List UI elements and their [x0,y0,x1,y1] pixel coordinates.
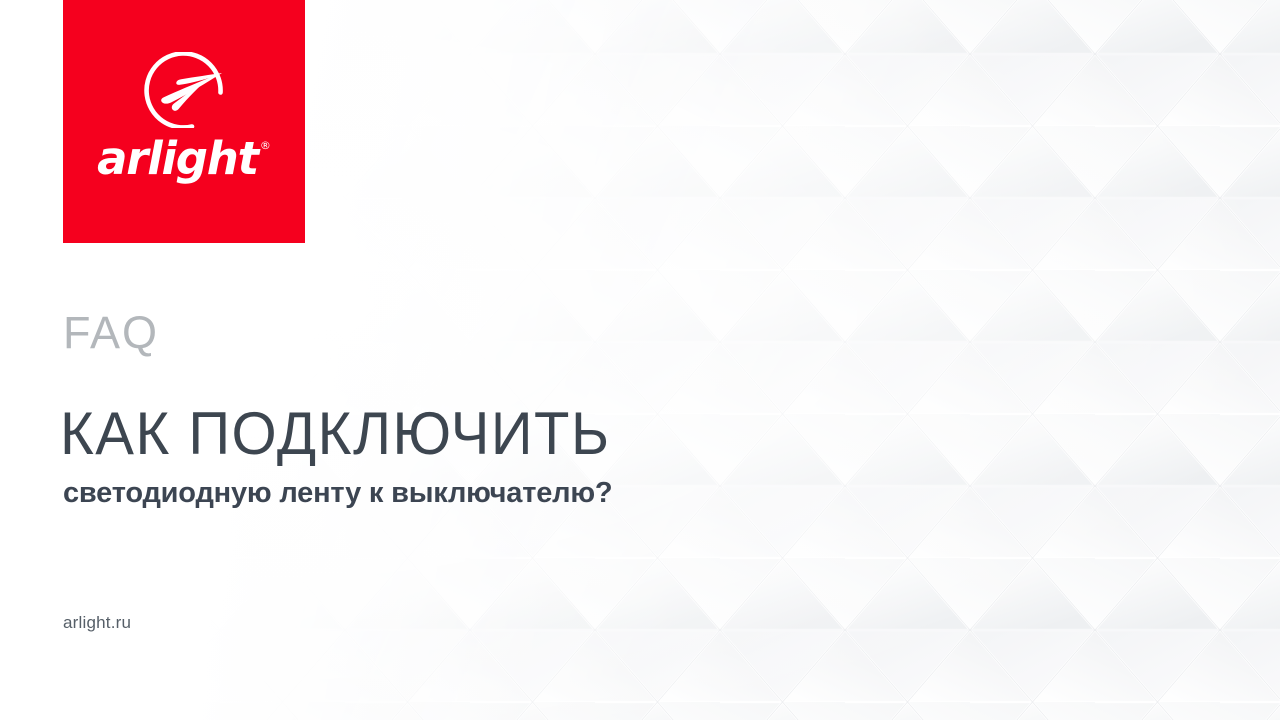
arlight-logo-block: arlight ® [63,0,305,243]
page-title: КАК ПОДКЛЮЧИТЬ [60,404,611,464]
arlight-wordmark: arlight ® [97,136,271,181]
page-subtitle: светодиодную ленту к выключателю? [63,478,612,510]
faq-slide: arlight ® FAQ КАК ПОДКЛЮЧИТЬ светодиодну… [0,0,1280,720]
site-url-label: arlight.ru [63,614,131,631]
arlight-wordmark-text: arlight [97,136,258,181]
eyebrow-label: FAQ [63,310,159,355]
arlight-swoosh-logomark [132,52,236,128]
registered-trademark-icon: ® [260,140,271,151]
